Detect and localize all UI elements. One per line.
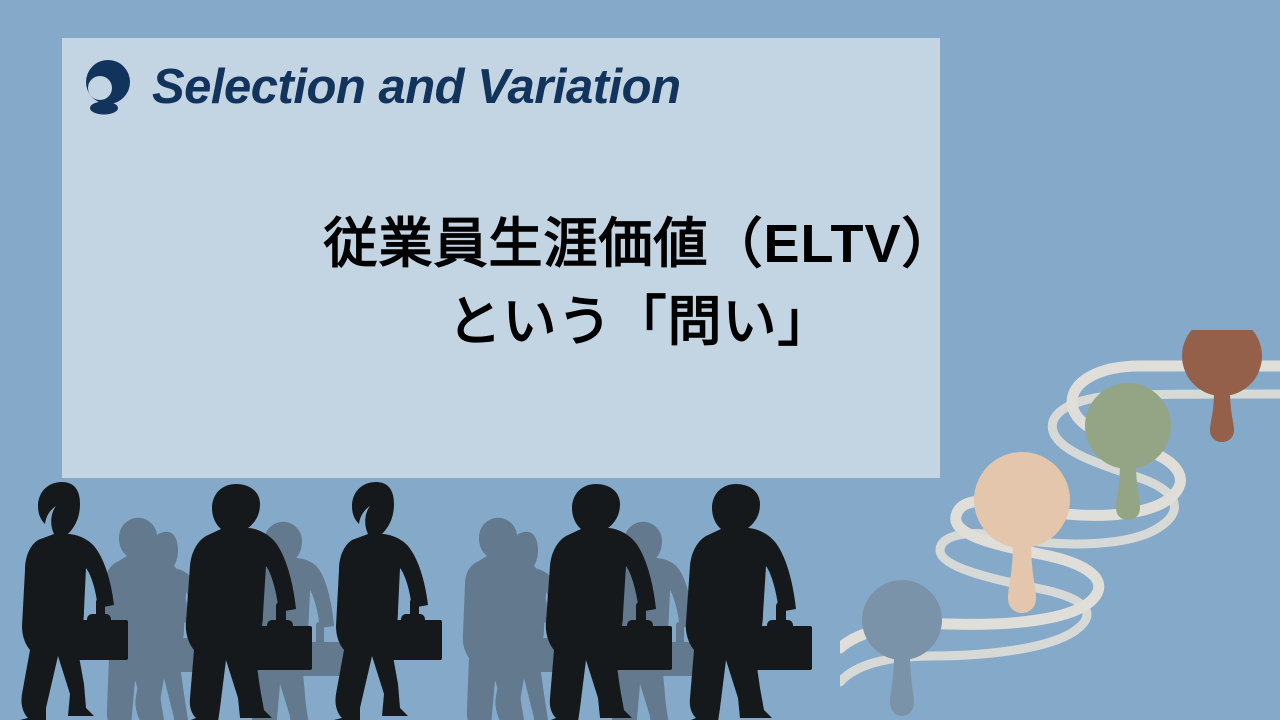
circle-mark-logo-icon [78, 58, 136, 116]
business-people-silhouettes [0, 480, 820, 720]
pin-gray-icon [862, 580, 942, 716]
slide-canvas: Selection and Variation 従業員生涯価値（ELTV） とい… [0, 0, 1280, 720]
page-title-line-1: 従業員生涯価値（ELTV） [0, 205, 1280, 283]
brand-logo-text: Selection and Variation [152, 63, 681, 112]
brand-logo: Selection and Variation [78, 58, 681, 116]
page-title-line-2: という「問い」 [0, 283, 1280, 361]
page-title: 従業員生涯価値（ELTV） という「問い」 [0, 205, 1280, 362]
